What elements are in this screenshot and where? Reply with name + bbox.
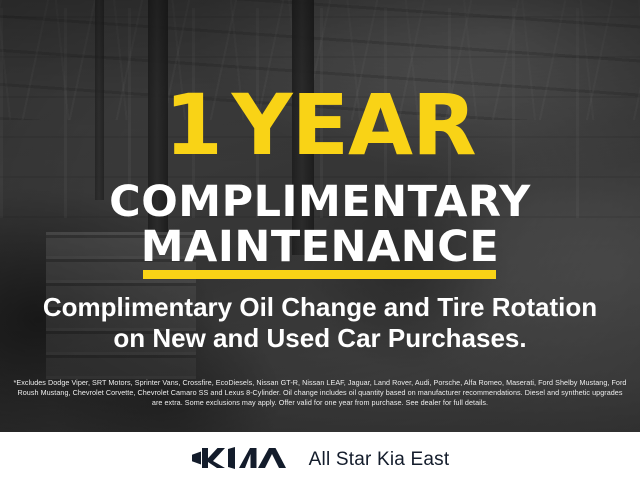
headline-one-year: 1YEAR (0, 83, 640, 167)
headline-number: 1 (164, 76, 221, 174)
kia-logo (191, 446, 287, 475)
banner-content: 1YEAR COMPLIMENTARY MAINTENANCE Complime… (0, 0, 640, 432)
yellow-divider-bar (143, 270, 496, 279)
footer-brand-group: All Star Kia East (191, 446, 450, 475)
headline-complimentary: COMPLIMENTARY (0, 181, 640, 224)
promotional-banner: 1YEAR COMPLIMENTARY MAINTENANCE Complime… (0, 0, 640, 488)
tagline-line-1: Complimentary Oil Change and Tire Rotati… (0, 292, 640, 323)
headline-year-word: YEAR (232, 76, 476, 174)
footer-bar: All Star Kia East (0, 432, 640, 488)
headline-maintenance: MAINTENANCE (0, 226, 640, 269)
dealer-name: All Star Kia East (309, 449, 450, 471)
tagline-line-2: on New and Used Car Purchases. (0, 323, 640, 354)
disclaimer-text: *Excludes Dodge Viper, SRT Motors, Sprin… (12, 378, 628, 409)
